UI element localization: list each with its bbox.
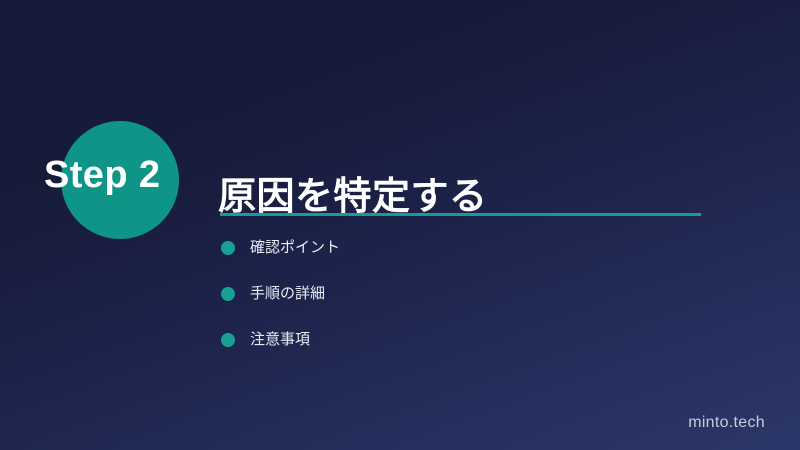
- list-item: 注意事項: [221, 332, 340, 378]
- list-item-label: 手順の詳細: [250, 286, 325, 302]
- bullet-list: 確認ポイント 手順の詳細 注意事項: [221, 240, 340, 378]
- footer-brand: minto.tech: [688, 412, 765, 434]
- bullet-dot-icon: [221, 333, 235, 347]
- title-divider: [220, 213, 701, 216]
- bullet-dot-icon: [221, 241, 235, 255]
- list-item-label: 確認ポイント: [250, 240, 340, 256]
- list-item: 確認ポイント: [221, 240, 340, 286]
- slide-canvas: Step 2 原因を特定する 確認ポイント 手順の詳細 注意事項 minto.t…: [0, 0, 800, 450]
- step-badge-label: Step 2: [44, 152, 214, 198]
- list-item: 手順の詳細: [221, 286, 340, 332]
- list-item-label: 注意事項: [250, 332, 310, 348]
- bullet-dot-icon: [221, 287, 235, 301]
